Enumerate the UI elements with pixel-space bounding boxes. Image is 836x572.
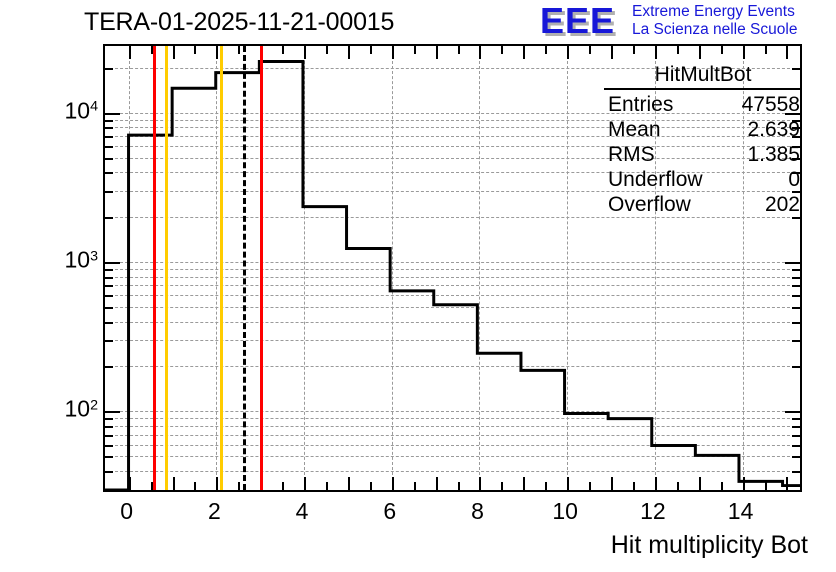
stats-row-value: 1.385	[747, 142, 800, 167]
stats-row-value: 47558	[742, 92, 800, 117]
y-axis-tick-label: 104	[40, 97, 98, 124]
y-axis-tick-label: 103	[40, 247, 98, 274]
x-axis-tick-label: 12	[640, 498, 666, 525]
stats-row-key: Mean	[608, 117, 661, 142]
stats-row-value: 0	[788, 167, 800, 192]
stats-row: Overflow202	[600, 192, 806, 217]
stats-row-key: Entries	[608, 92, 673, 117]
marker-line-orange-high	[220, 46, 223, 490]
marker-line-red-low	[153, 46, 156, 490]
x-axis-tick-label: 0	[120, 498, 133, 525]
marker-line-orange-low	[165, 46, 168, 490]
eee-logo-text: Extreme Energy Events La Scienza nelle S…	[632, 3, 797, 39]
x-axis-tick-label: 14	[728, 498, 754, 525]
x-axis-tick-label: 10	[552, 498, 578, 525]
eee-logo-line2: La Scienza nelle Scuole	[632, 21, 797, 39]
marker-line-red-high	[260, 46, 263, 490]
stats-box: HitMultBot Entries47558Mean2.639RMS1.385…	[600, 62, 806, 217]
y-axis-tick-label: 102	[40, 396, 98, 423]
stats-box-rows: Entries47558Mean2.639RMS1.385Underflow0O…	[600, 92, 806, 217]
stats-row: Underflow0	[600, 167, 806, 192]
marker-line-mean-line	[243, 46, 246, 490]
stats-row: Entries47558	[600, 92, 806, 117]
page-title: TERA-01-2025-11-21-00015	[84, 8, 394, 37]
x-axis-tick-label: 2	[208, 498, 221, 525]
stats-box-title: HitMultBot	[604, 62, 802, 90]
x-axis-tick-label: 8	[471, 498, 484, 525]
stats-row: RMS1.385	[600, 142, 806, 167]
eee-logo-line1: Extreme Energy Events	[632, 3, 797, 21]
x-axis-title: Hit multiplicity Bot	[611, 531, 808, 560]
stats-row: Mean2.639	[600, 117, 806, 142]
stats-row-key: Underflow	[608, 167, 703, 192]
x-axis-tick-label: 4	[296, 498, 309, 525]
stats-row-key: Overflow	[608, 192, 691, 217]
eee-logo: EEE Extreme Energy Events La Scienza nel…	[540, 2, 830, 42]
x-axis-tick-label: 6	[383, 498, 396, 525]
plot-canvas: TERA-01-2025-11-21-00015 EEE Extreme Ene…	[0, 0, 836, 572]
stats-row-key: RMS	[608, 142, 655, 167]
eee-logo-mark: EEE	[540, 2, 615, 40]
stats-row-value: 2.639	[747, 117, 800, 142]
stats-row-value: 202	[765, 192, 800, 217]
